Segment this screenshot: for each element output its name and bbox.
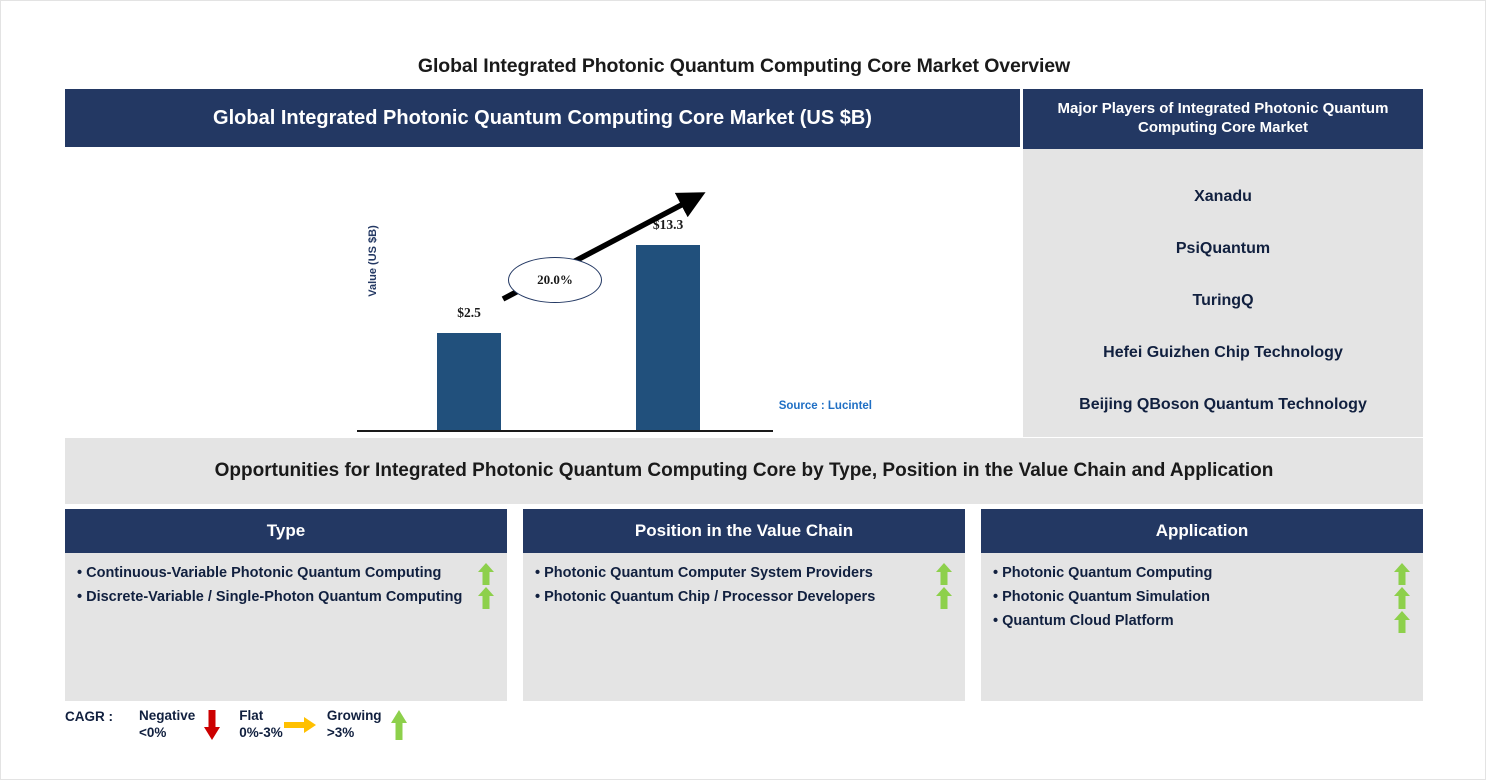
column-body-application: • Photonic Quantum Computing • Photonic … (981, 553, 1423, 701)
bullet-label: Quantum Cloud Platform (1002, 613, 1174, 629)
list-item: • Continuous-Variable Photonic Quantum C… (77, 563, 499, 585)
arrow-up-green-icon (391, 710, 407, 740)
list-item: TuringQ (1023, 275, 1423, 327)
trend-indicator-growing (1389, 611, 1415, 633)
list-item: Xanadu (1023, 171, 1423, 223)
trend-indicator-growing (1389, 587, 1415, 609)
arrow-down-red-icon (204, 710, 220, 740)
legend-name-flat: Flat (239, 707, 283, 724)
trend-indicator-growing (473, 587, 499, 609)
list-item: Hefei Guizhen Chip Technology (1023, 327, 1423, 379)
bullet-label: Photonic Quantum Simulation (1002, 589, 1210, 605)
bullet-text: • Photonic Quantum Computing (993, 563, 1389, 584)
legend-item-flat: Flat 0%-3% (239, 707, 317, 743)
bullet-text: • Photonic Quantum Computer System Provi… (535, 563, 931, 584)
legend-item-negative: Negative <0% (139, 707, 229, 743)
list-item: • Discrete-Variable / Single-Photon Quan… (77, 587, 499, 609)
legend-range-growing: >3% (327, 724, 382, 741)
legend-name-negative: Negative (139, 707, 195, 724)
page-title: Global Integrated Photonic Quantum Compu… (1, 55, 1486, 78)
bar-value-2035: $13.3 (623, 217, 713, 233)
trend-indicator-growing (931, 587, 957, 609)
list-item: • Photonic Quantum Computer System Provi… (535, 563, 957, 585)
legend-texts-growing: Growing >3% (327, 707, 382, 741)
arrow-right-yellow-icon (284, 717, 316, 733)
chart-source-note: Source : Lucintel (779, 400, 872, 412)
legend-item-growing: Growing >3% (327, 707, 416, 743)
trend-indicator-growing (931, 563, 957, 585)
bar-2026 (437, 333, 501, 430)
list-item: PsiQuantum (1023, 223, 1423, 275)
bullet-label: Photonic Quantum Computing (1002, 565, 1212, 581)
opportunities-title: Opportunities for Integrated Photonic Qu… (65, 438, 1423, 504)
bullet-text: • Quantum Cloud Platform (993, 611, 1389, 632)
arrow-up-green-icon (1394, 611, 1410, 633)
players-panel-header: Major Players of Integrated Photonic Qua… (1023, 89, 1423, 149)
column-position-in-value-chain: Position in the Value Chain • Photonic Q… (523, 509, 965, 701)
bullet-text: • Discrete-Variable / Single-Photon Quan… (77, 587, 473, 608)
bullet-label: Continuous-Variable Photonic Quantum Com… (86, 565, 441, 581)
legend-range-negative: <0% (139, 724, 195, 741)
bullet-text: • Photonic Quantum Chip / Processor Deve… (535, 587, 931, 608)
column-body-position: • Photonic Quantum Computer System Provi… (523, 553, 965, 701)
top-row: Global Integrated Photonic Quantum Compu… (65, 89, 1423, 437)
market-chart-panel: Global Integrated Photonic Quantum Compu… (65, 89, 1020, 437)
bar-2035 (636, 245, 700, 430)
bar-value-2026: $2.5 (424, 305, 514, 321)
bullet-text: • Continuous-Variable Photonic Quantum C… (77, 563, 473, 584)
arrow-up-green-icon (936, 587, 952, 609)
opportunities-columns: Type • Continuous-Variable Photonic Quan… (65, 509, 1423, 701)
list-item: • Photonic Quantum Computing (993, 563, 1415, 585)
cagr-bubble: 20.0% (508, 257, 602, 303)
arrow-up-green-icon (478, 587, 494, 609)
list-item: • Quantum Cloud Platform (993, 611, 1415, 633)
list-item: Beijing QBoson Quantum Technology (1023, 379, 1423, 431)
market-panel-header: Global Integrated Photonic Quantum Compu… (65, 89, 1020, 147)
chart-x-axis-line (357, 430, 773, 432)
legend-range-flat: 0%-3% (239, 724, 283, 741)
column-type: Type • Continuous-Variable Photonic Quan… (65, 509, 507, 701)
cagr-legend: CAGR : Negative <0% Flat 0%-3% Growing >… (65, 707, 426, 743)
column-header-application: Application (981, 509, 1423, 553)
column-application: Application • Photonic Quantum Computing… (981, 509, 1423, 701)
chart-y-axis-label: Value (US $B) (367, 225, 379, 297)
arrow-right-yellow-icon-wrap (283, 707, 317, 743)
legend-name-growing: Growing (327, 707, 382, 724)
column-body-type: • Continuous-Variable Photonic Quantum C… (65, 553, 507, 701)
arrow-up-green-icon (1394, 587, 1410, 609)
trend-indicator-growing (1389, 563, 1415, 585)
major-players-panel: Major Players of Integrated Photonic Qua… (1023, 89, 1423, 437)
bullet-label: Discrete-Variable / Single-Photon Quantu… (86, 589, 462, 605)
list-item: • Photonic Quantum Chip / Processor Deve… (535, 587, 957, 609)
arrow-down-red-icon-wrap (195, 707, 229, 743)
bar-chart: Value (US $B) $2.5 $13.3 2026 2035 20.0%… (65, 147, 1020, 437)
arrow-up-green-icon (936, 563, 952, 585)
bullet-label: Photonic Quantum Chip / Processor Develo… (544, 589, 875, 605)
players-list: Xanadu PsiQuantum TuringQ Hefei Guizhen … (1023, 149, 1423, 437)
column-header-type: Type (65, 509, 507, 553)
bullet-label: Photonic Quantum Computer System Provide… (544, 565, 873, 581)
legend-texts-negative: Negative <0% (139, 707, 195, 741)
legend-texts-flat: Flat 0%-3% (239, 707, 283, 741)
arrow-up-green-legend-icon-wrap (382, 707, 416, 743)
list-item: • Photonic Quantum Simulation (993, 587, 1415, 609)
column-header-position: Position in the Value Chain (523, 509, 965, 553)
cagr-legend-label: CAGR : (65, 707, 113, 725)
trend-indicator-growing (473, 563, 499, 585)
arrow-up-green-icon (1394, 563, 1410, 585)
bullet-text: • Photonic Quantum Simulation (993, 587, 1389, 608)
arrow-up-green-icon (478, 563, 494, 585)
